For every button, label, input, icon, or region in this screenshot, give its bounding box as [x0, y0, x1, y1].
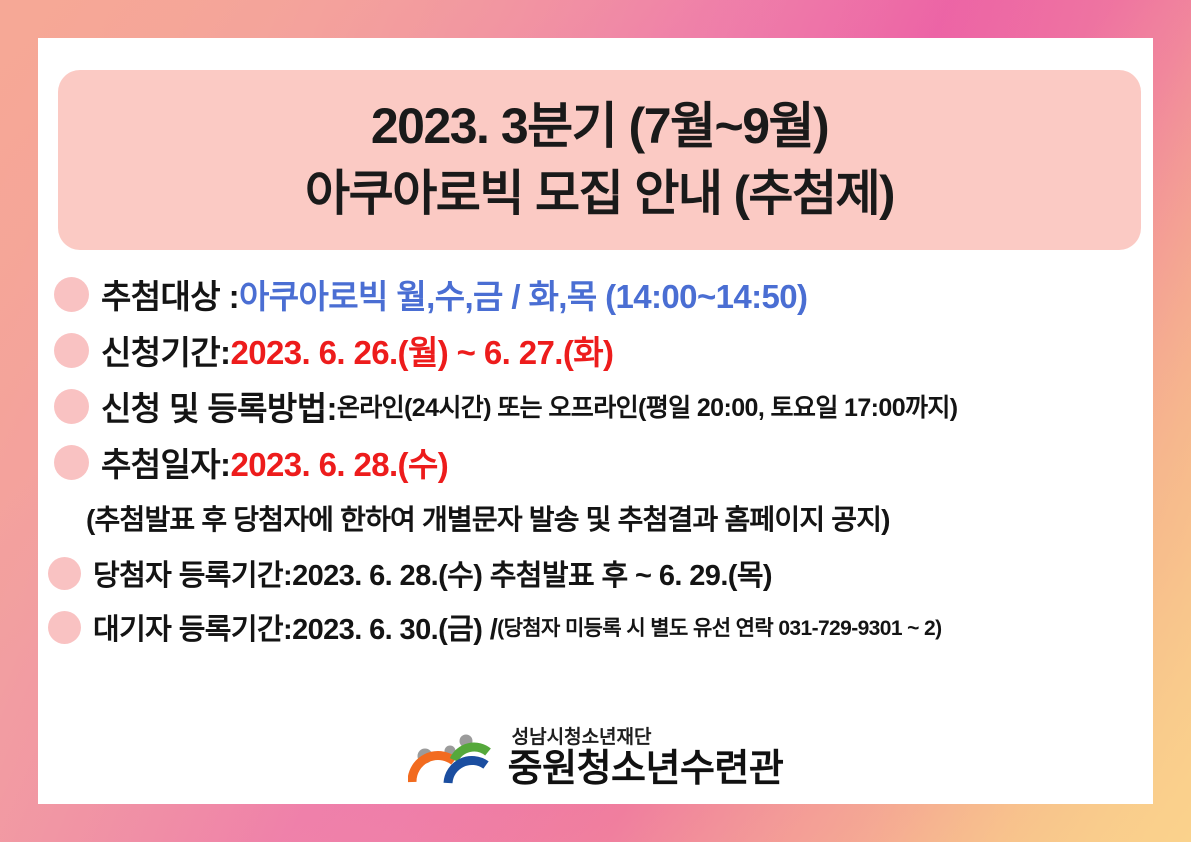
item-label: 신청 및 등록방법:: [101, 382, 337, 430]
bullet-icon: [54, 277, 89, 312]
logo-title: 중원청소년수련관: [508, 750, 784, 788]
item-value: 온라인(24시간) 또는 오프라인(평일 20:00, 토요일 17:00까지): [337, 388, 958, 424]
list-item: 신청기간: 2023. 6. 26.(월) ~ 6. 27.(화): [38, 322, 1153, 378]
bullet-icon: [54, 389, 89, 424]
item-label: 추첨대상 :: [101, 270, 239, 318]
list-item: 추첨일자: 2023. 6. 28.(수): [38, 434, 1153, 490]
poster-canvas: 2023. 3분기 (7월~9월) 아쿠아로빅 모집 안내 (추첨제) 추첨대상…: [0, 0, 1191, 842]
bullet-icon: [48, 557, 81, 590]
item-label: 대기자 등록기간:: [93, 606, 292, 648]
announcement-list: 추첨대상 : 아쿠아로빅 월,수,금 / 화,목 (14:00~14:50) 신…: [38, 266, 1153, 654]
item-value: 2023. 6. 28.(수) 추첨발표 후 ~ 6. 29.(목): [292, 552, 772, 594]
item-label: 추첨일자:: [101, 438, 230, 486]
item-value: 2023. 6. 26.(월) ~ 6. 27.(화): [230, 326, 613, 374]
list-item: 추첨대상 : 아쿠아로빅 월,수,금 / 화,목 (14:00~14:50): [38, 266, 1153, 322]
item-value: 아쿠아로빅 월,수,금 / 화,목 (14:00~14:50): [239, 270, 807, 318]
item-value-tail: (당첨자 미등록 시 별도 유선 연락 031-729-9301 ~ 2): [497, 612, 941, 642]
note-row: (추첨발표 후 당첨자에 한하여 개별문자 발송 및 추첨결과 홈페이지 공지): [38, 490, 1153, 546]
title-banner: 2023. 3분기 (7월~9월) 아쿠아로빅 모집 안내 (추첨제): [58, 70, 1141, 250]
poster-card: 2023. 3분기 (7월~9월) 아쿠아로빅 모집 안내 (추첨제) 추첨대상…: [38, 38, 1153, 804]
item-label: 신청기간:: [101, 326, 230, 374]
logo-subtitle: 성남시청소년재단: [512, 728, 784, 747]
snyf-logo-mark-icon: [408, 732, 494, 784]
bullet-icon: [48, 611, 81, 644]
title-line-1: 2023. 3분기 (7월~9월): [371, 92, 828, 161]
list-item: 대기자 등록기간: 2023. 6. 30.(금) / (당첨자 미등록 시 별…: [38, 600, 1153, 654]
item-value: 2023. 6. 28.(수): [230, 438, 448, 486]
title-line-2: 아쿠아로빅 모집 안내 (추첨제): [305, 161, 894, 229]
item-label: 당첨자 등록기간:: [93, 552, 292, 594]
list-item: 신청 및 등록방법: 온라인(24시간) 또는 오프라인(평일 20:00, 토…: [38, 378, 1153, 434]
bullet-icon: [54, 333, 89, 368]
item-value: 2023. 6. 30.(금) /: [292, 606, 497, 648]
bullet-icon: [54, 445, 89, 480]
list-item: 당첨자 등록기간: 2023. 6. 28.(수) 추첨발표 후 ~ 6. 29…: [38, 546, 1153, 600]
note-text: (추첨발표 후 당첨자에 한하여 개별문자 발송 및 추첨결과 홈페이지 공지): [86, 498, 890, 538]
logo-text-block: 성남시청소년재단 중원청소년수련관: [508, 728, 784, 788]
organization-logo: 성남시청소년재단 중원청소년수련관: [38, 728, 1153, 788]
